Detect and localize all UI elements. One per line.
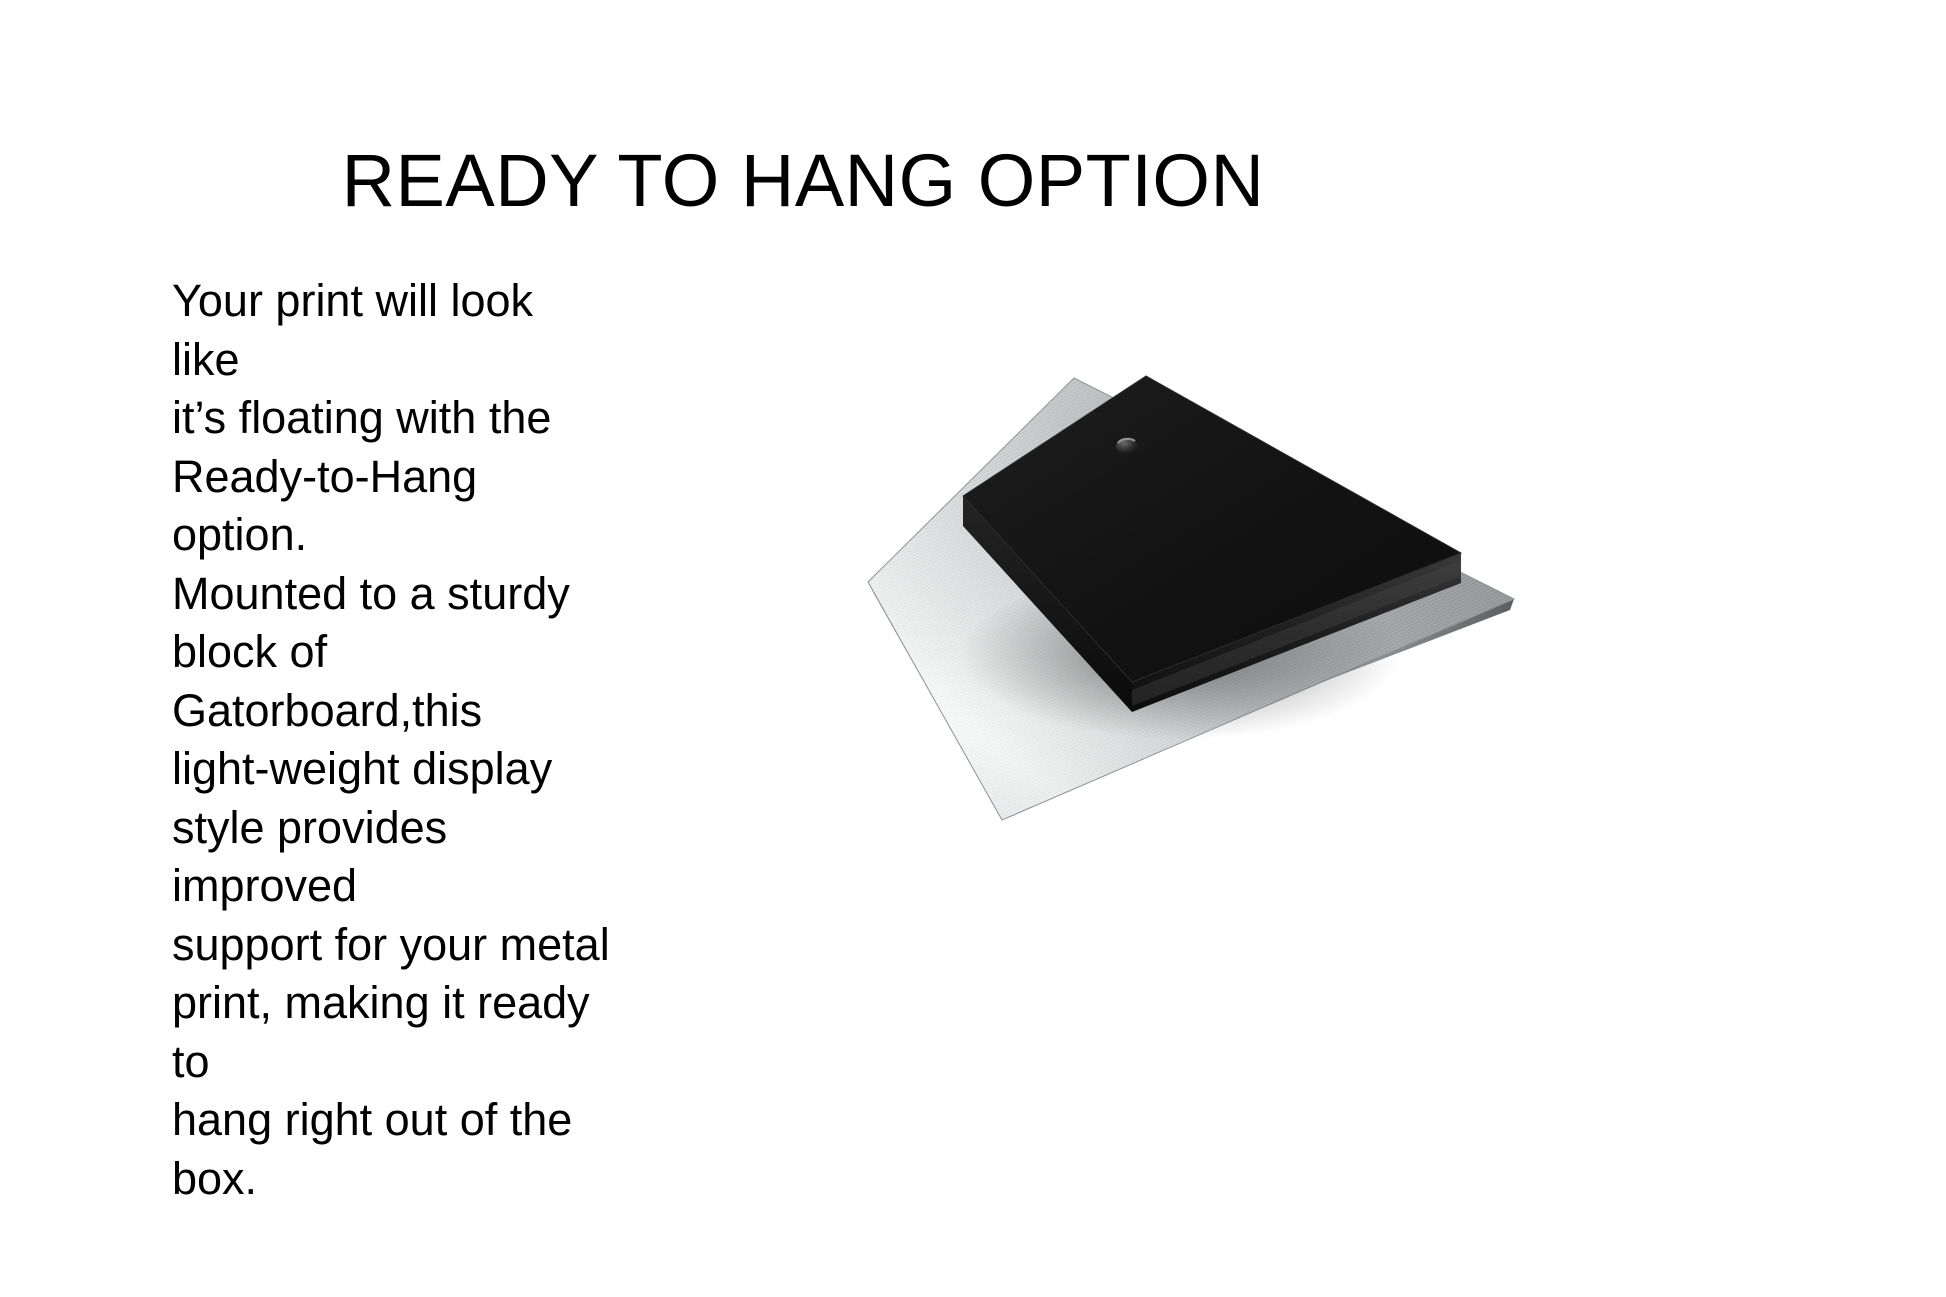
body-paragraph: Your print will look like it’s floating … xyxy=(172,272,612,1208)
page-title: READY TO HANG OPTION xyxy=(0,138,1946,224)
product-illustration xyxy=(830,350,1550,840)
product-photo xyxy=(830,350,1550,840)
slide-canvas: READY TO HANG OPTION Your print will loo… xyxy=(0,0,1946,1297)
